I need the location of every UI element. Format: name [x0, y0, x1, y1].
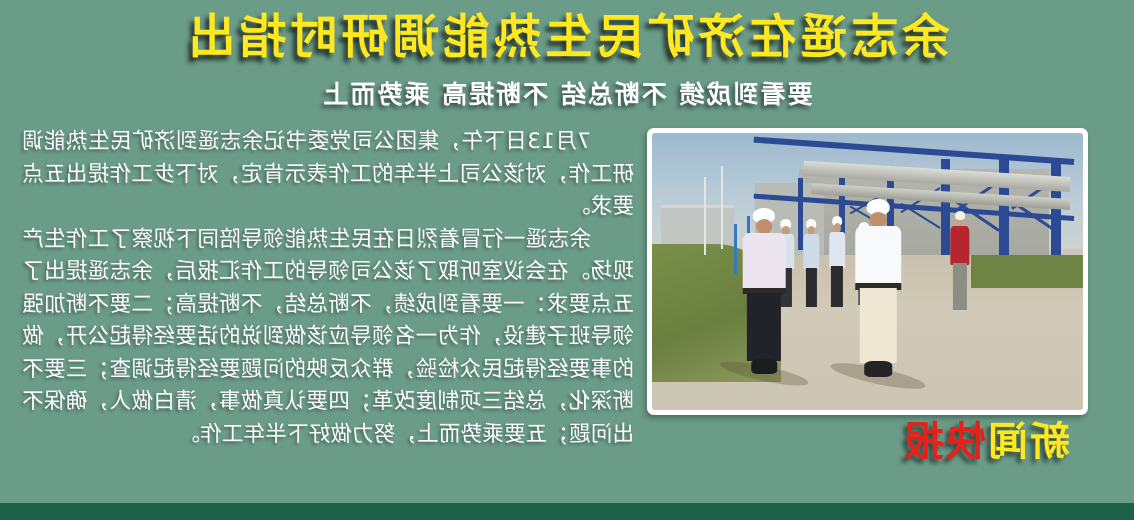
photo-person	[945, 216, 975, 310]
article-body: 7月13日下午，集团公司党委书记余志遥到济矿民生热能调研工作，对该公司上半年的工…	[22, 126, 634, 451]
photo-light-pole	[704, 177, 706, 255]
logo-text-primary: 新闻	[986, 419, 1070, 465]
photo-grass-left	[971, 255, 1083, 288]
logo-text-secondary: 快报	[902, 419, 986, 465]
photo-leader-primary	[846, 199, 911, 376]
photo-light-pole	[721, 166, 723, 249]
photo-column	[1051, 159, 1061, 260]
page-subtitle: 要看到成绩 不断总结 不断提高 乘势而上	[0, 78, 1134, 112]
article-paragraph: 7月13日下午，集团公司党委书记余志遥到济矿民生热能调研工作，对该公司上半年的工…	[22, 126, 634, 224]
news-poster: 余志遥在济矿民生热能调研时指出 要看到成绩 不断总结 不断提高 乘势而上	[0, 0, 1134, 520]
photo-leader-secondary	[734, 208, 794, 374]
bottom-band	[0, 503, 1134, 520]
page-title: 余志遥在济矿民生热能调研时指出	[0, 8, 1134, 68]
article-paragraph: 余志遥一行冒着烈日在民生热能领导陪同下视察了工作生产现场。在会议室听取了该公司领…	[22, 224, 634, 452]
photo-frame	[647, 128, 1088, 415]
news-photo	[652, 133, 1083, 410]
photo-person	[799, 219, 825, 308]
publication-logo: 新闻快报	[902, 418, 1070, 466]
